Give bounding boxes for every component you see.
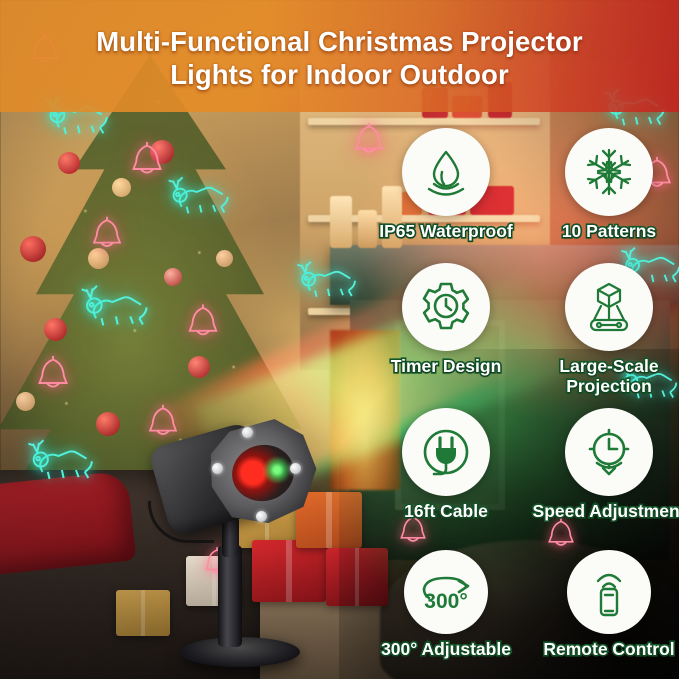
feature-16ft-cable[interactable]: 16ft Cable [376, 408, 516, 521]
feature-list: IP65 Waterproof [376, 120, 679, 675]
projector-stake [218, 545, 242, 647]
feature-label: IP65 Waterproof [379, 221, 513, 241]
feature-10-patterns[interactable]: 10 Patterns [539, 128, 679, 241]
rotation-300-icon: 300° [404, 550, 488, 634]
lens-flare [262, 457, 292, 483]
clock-arrow-icon [565, 408, 653, 496]
feature-remote-control[interactable]: Remote Control [539, 550, 679, 659]
feature-timer-design[interactable]: Timer Design [376, 263, 516, 396]
page-title-line-1: Multi-Functional Christmas Projector [96, 25, 582, 58]
rotation-degrees-text: 300° [424, 590, 467, 613]
feature-large-scale-projection[interactable]: Large-Scale Projection [539, 263, 679, 396]
led-dot [256, 511, 267, 522]
water-drop-icon [402, 128, 490, 216]
page-title-line-2: Lights for Indoor Outdoor [170, 58, 509, 91]
power-plug-icon [402, 408, 490, 496]
feature-label: 16ft Cable [404, 501, 488, 521]
feature-ip65-waterproof[interactable]: IP65 Waterproof [376, 128, 516, 241]
feature-label: 300° Adjustable [381, 639, 511, 659]
feature-label: 10 Patterns [562, 221, 656, 241]
led-dot [212, 463, 223, 474]
snowflake-icon [565, 128, 653, 216]
feature-row-4: 300° 300° Adjustable Remote Control [376, 550, 679, 659]
feature-label: Remote Control [543, 639, 674, 659]
feature-300-adjustable[interactable]: 300° 300° Adjustable [376, 550, 516, 659]
feature-speed-adjustment[interactable]: Speed Adjustment [539, 408, 679, 521]
led-dot [242, 427, 253, 438]
gear-clock-icon [402, 263, 490, 351]
feature-label: Large-Scale Projection [547, 356, 672, 396]
remote-signal-icon [567, 550, 651, 634]
feature-label: Speed Adjustment [533, 501, 679, 521]
projection-cube-icon [565, 263, 653, 351]
feature-row-2: Timer Design Large-Scale Projection [376, 263, 679, 396]
projector-device [150, 405, 330, 675]
header-banner: Multi-Functional Christmas Projector Lig… [0, 0, 679, 112]
feature-label: Timer Design [391, 356, 502, 376]
led-dot [290, 463, 301, 474]
power-cord [148, 501, 214, 543]
feature-row-3: 16ft Cable Speed Adjustment [376, 408, 679, 521]
product-marketing-image: Multi-Functional Christmas Projector Lig… [0, 0, 679, 679]
feature-row-1: IP65 Waterproof [376, 128, 679, 241]
